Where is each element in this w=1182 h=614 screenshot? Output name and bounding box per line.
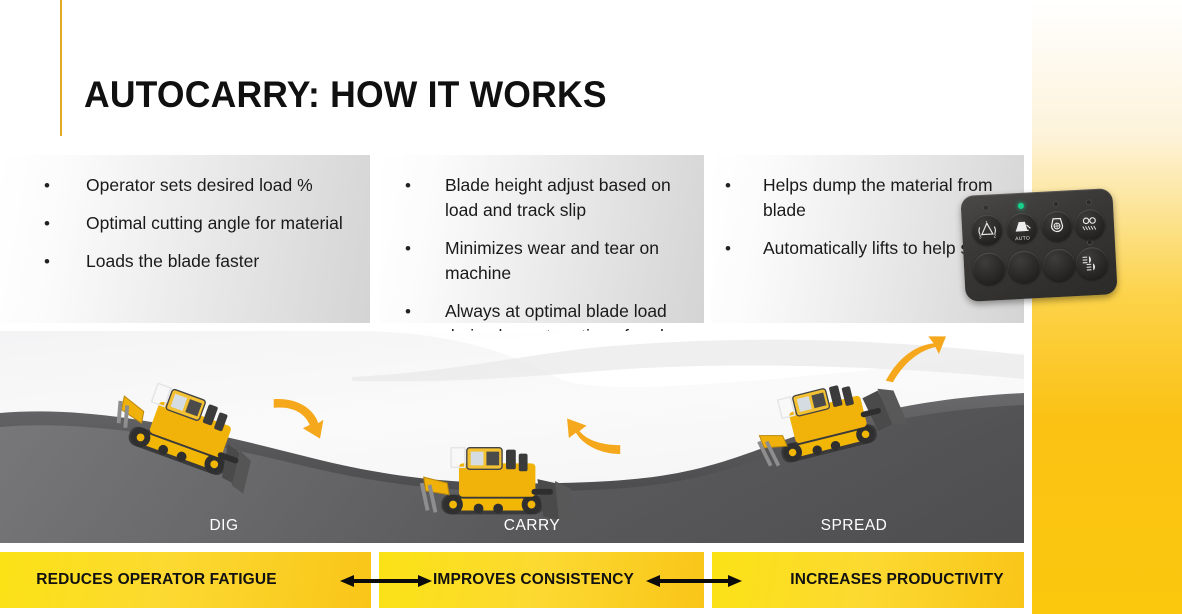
benefit-band-label: IMPROVES CONSISTENCY: [433, 571, 634, 589]
benefit-band-label: REDUCES OPERATOR FATIGUE: [36, 571, 276, 589]
arrow-dig-curve-down-right: [272, 394, 332, 445]
connector-arrow-2: [646, 570, 742, 592]
svg-text:1: 1: [985, 220, 988, 225]
right-accent-gradient-panel: [1032, 0, 1182, 614]
bullet-icon: •: [405, 299, 411, 324]
svg-text:2: 2: [993, 233, 996, 238]
dozer-cycle-illustration: DIG CARRY SPREAD: [0, 331, 1024, 543]
arrow-spread-curve-up-right: [884, 331, 946, 384]
list-item: • Minimizes wear and tear on machine: [379, 236, 694, 286]
list-item-text: Blade height adjust based on load and tr…: [445, 175, 671, 220]
panel-dig: • Operator sets desired load % • Optimal…: [0, 155, 370, 323]
benefit-band-label: INCREASES PRODUCTIVITY: [790, 571, 1003, 589]
keypad-body: 1 3 2 AUTO: [960, 188, 1117, 302]
bullet-list-dig: • Operator sets desired load % • Optimal…: [0, 173, 360, 274]
list-item-text: Helps dump the material from blade: [763, 175, 993, 220]
bullet-icon: •: [725, 173, 731, 198]
panel-carry: • Blade height adjust based on load and …: [379, 155, 704, 323]
slide-canvas: AUTOCARRY: HOW IT WORKS • Operator sets …: [0, 0, 1182, 614]
blade-angle-icon: 1 3 2: [976, 218, 999, 241]
work-lamps-icon: [1078, 213, 1101, 236]
machine-control-keypad: 1 3 2 AUTO: [960, 188, 1117, 302]
keypad-led-headlights: [1087, 239, 1093, 245]
keypad-button-blank-3[interactable]: [1042, 248, 1076, 282]
title-accent-rule: [60, 0, 62, 136]
list-item: • Loads the blade faster: [0, 249, 360, 274]
list-item: • Blade height adjust based on load and …: [379, 173, 694, 223]
stage-label-carry: CARRY: [482, 517, 582, 535]
keypad-button-blade-angle[interactable]: 1 3 2: [971, 214, 1003, 246]
benefit-bands-row: REDUCES OPERATOR FATIGUE IMPROVES CONSIS…: [0, 552, 1024, 608]
keypad-button-headlights[interactable]: [1075, 246, 1109, 280]
keypad-button-autocarry[interactable]: AUTO: [1006, 212, 1038, 244]
list-item: • Operator sets desired load %: [0, 173, 360, 198]
bullet-panels-row: • Operator sets desired load % • Optimal…: [0, 155, 1024, 323]
keypad-button-work-lamps[interactable]: [1074, 209, 1106, 241]
bullet-icon: •: [44, 173, 50, 198]
keypad-led-3: [1053, 201, 1059, 207]
bullet-icon: •: [405, 236, 411, 261]
page-title: AUTOCARRY: HOW IT WORKS: [84, 74, 607, 116]
bullet-icon: •: [44, 211, 50, 236]
keypad-led-4: [1086, 199, 1092, 205]
bullet-icon: •: [725, 236, 731, 261]
bullet-list-carry: • Blade height adjust based on load and …: [379, 173, 694, 349]
stage-label-dig: DIG: [176, 517, 272, 535]
benefit-band-fatigue: REDUCES OPERATOR FATIGUE: [0, 552, 371, 608]
keypad-button-blank-1[interactable]: [972, 252, 1006, 286]
list-item-text: Loads the blade faster: [86, 251, 259, 271]
keypad-led-1: [983, 205, 989, 211]
bullet-icon: •: [44, 249, 50, 274]
list-item-text: Optimal cutting angle for material: [86, 213, 343, 233]
keypad-button-ripper[interactable]: [1041, 210, 1073, 242]
bullet-icon: •: [405, 173, 411, 198]
list-item-text: Operator sets desired load %: [86, 175, 313, 195]
keypad-auto-label: AUTO: [1008, 235, 1038, 243]
stage-label-spread: SPREAD: [800, 517, 908, 535]
connector-arrow-1: [340, 570, 432, 592]
headlights-icon: [1080, 252, 1103, 275]
keypad-led-2-active: [1018, 203, 1024, 209]
list-item-text: Minimizes wear and tear on machine: [445, 238, 659, 283]
list-item: • Optimal cutting angle for material: [0, 211, 360, 236]
arrow-carry-curve-left: [560, 415, 622, 459]
benefit-band-productivity: INCREASES PRODUCTIVITY: [712, 552, 1024, 608]
keypad-button-blank-2[interactable]: [1007, 250, 1041, 284]
ripper-icon: [1045, 214, 1068, 237]
